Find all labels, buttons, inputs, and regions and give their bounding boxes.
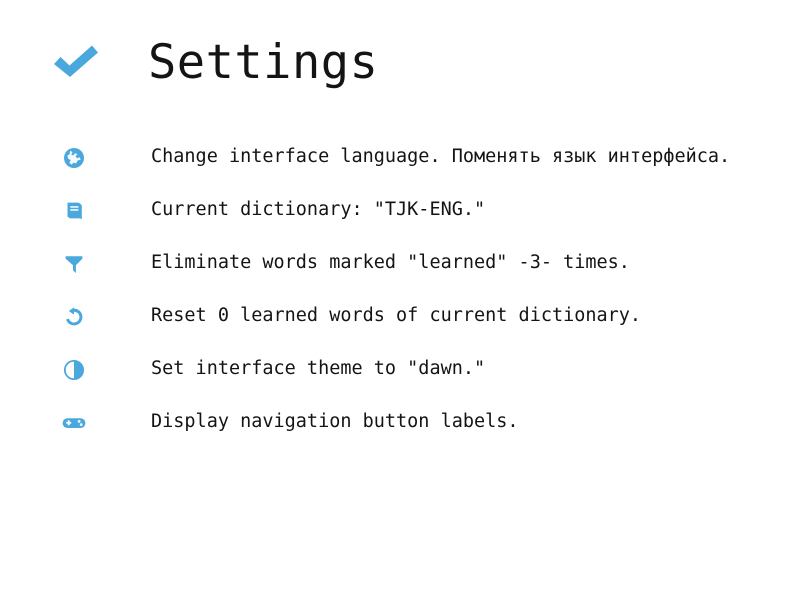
contrast-circle-icon <box>52 352 96 388</box>
setting-label: Set interface theme to "dawn." <box>151 358 485 380</box>
setting-label: Eliminate words marked "learned" -3- tim… <box>151 252 630 274</box>
setting-label: Reset 0 learned words of current diction… <box>151 305 641 327</box>
reset-arrow-icon <box>52 299 96 335</box>
gamepad-icon <box>52 405 96 441</box>
setting-label: Display navigation button labels. <box>151 411 519 433</box>
setting-label: Change interface language. Поменять язык… <box>151 146 730 168</box>
setting-row-nav-labels[interactable]: Display navigation button labels. <box>0 396 800 449</box>
setting-row-theme[interactable]: Set interface theme to "dawn." <box>0 343 800 396</box>
globe-icon <box>52 140 96 176</box>
settings-list: Change interface language. Поменять язык… <box>0 131 800 449</box>
setting-row-language[interactable]: Change interface language. Поменять язык… <box>0 131 800 184</box>
check-icon <box>44 30 108 94</box>
page-title: Settings <box>148 39 378 86</box>
page-header: Settings <box>0 22 800 102</box>
setting-row-reset-learned[interactable]: Reset 0 learned words of current diction… <box>0 290 800 343</box>
setting-row-eliminate-learned[interactable]: Eliminate words marked "learned" -3- tim… <box>0 237 800 290</box>
setting-row-dictionary[interactable]: Current dictionary: "TJK-ENG." <box>0 184 800 237</box>
setting-label: Current dictionary: "TJK-ENG." <box>151 199 485 221</box>
funnel-icon <box>52 246 96 282</box>
book-icon <box>52 193 96 229</box>
settings-screen: Settings Change interface language. Поме… <box>0 0 800 599</box>
